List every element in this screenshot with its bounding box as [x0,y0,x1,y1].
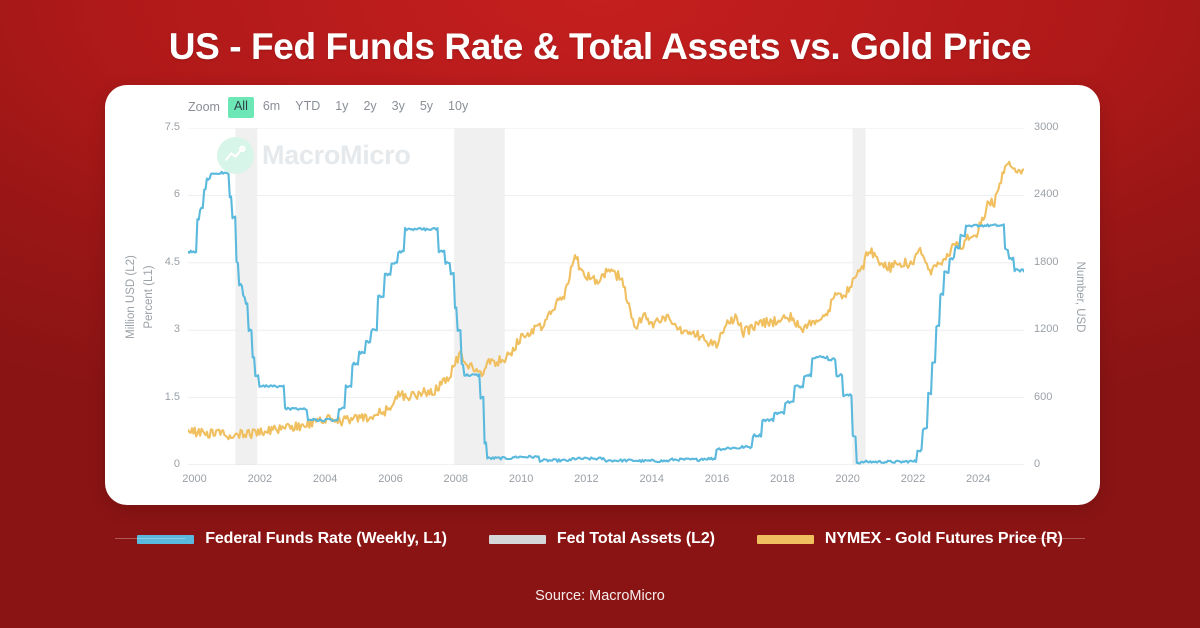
x-tick-2008: 2008 [431,473,481,485]
y-left-tick-6: 6 [142,188,180,200]
recession-band-2 [853,128,866,465]
series-line-federal-funds-rate-weekly-l1 [188,172,1024,464]
y-left-tick-0: 0 [142,458,180,470]
legend-label-fed-total-assets: Fed Total Assets (L2) [557,530,715,548]
y-left-tick-4.5: 4.5 [142,256,180,268]
zoom-range-3y[interactable]: 3y [386,97,411,118]
y-right-tick-1200: 1200 [1034,323,1058,335]
axis-title-percent: Percent (L1) [143,265,155,328]
legend-item-gold-futures-price[interactable]: NYMEX - Gold Futures Price (R) [757,530,1063,548]
x-tick-2024: 2024 [953,473,1003,485]
y-right-tick-2400: 2400 [1034,188,1058,200]
x-tick-2010: 2010 [496,473,546,485]
x-tick-2006: 2006 [365,473,415,485]
page-title: US - Fed Funds Rate & Total Assets vs. G… [0,0,1200,68]
y-left-tick-1.5: 1.5 [142,391,180,403]
recession-band-0 [235,128,257,465]
x-tick-2016: 2016 [692,473,742,485]
chart-legend: Federal Funds Rate (Weekly, L1) Fed Tota… [0,530,1200,548]
legend-swatch-gold [757,535,814,544]
gridlines-group [188,128,1024,465]
zoom-range-ytd[interactable]: YTD [289,97,326,118]
legend-swatch-gray [489,535,546,544]
y-right-tick-600: 600 [1034,391,1052,403]
legend-rule-left [115,538,185,539]
zoom-range-all[interactable]: All [228,97,254,118]
legend-item-fed-total-assets[interactable]: Fed Total Assets (L2) [489,530,715,548]
legend-item-federal-funds-rate[interactable]: Federal Funds Rate (Weekly, L1) [137,530,447,548]
chart-plot-svg[interactable] [188,128,1024,465]
plot-area[interactable] [188,128,1024,465]
x-tick-2018: 2018 [757,473,807,485]
y-right-tick-3000: 3000 [1034,121,1058,133]
source-note: Source: MacroMicro [0,588,1200,604]
x-tick-2014: 2014 [627,473,677,485]
x-tick-2020: 2020 [823,473,873,485]
y-right-tick-0: 0 [1034,458,1040,470]
x-tick-2000: 2000 [170,473,220,485]
recession-band-1 [454,128,505,465]
axis-title-number-usd: Number, USD [1074,261,1086,332]
axis-title-million-usd: Million USD (L2) [125,255,137,339]
x-tick-2004: 2004 [300,473,350,485]
legend-rule-right [1015,538,1085,539]
y-right-tick-1800: 1800 [1034,256,1058,268]
x-tick-2012: 2012 [561,473,611,485]
legend-label-federal-funds-rate: Federal Funds Rate (Weekly, L1) [205,530,447,548]
recession-bands-group [235,128,865,465]
x-tick-2002: 2002 [235,473,285,485]
legend-label-gold-futures-price: NYMEX - Gold Futures Price (R) [825,530,1063,548]
zoom-range-1y[interactable]: 1y [329,97,354,118]
chart-card: Zoom All 6m YTD 1y 2y 3y 5y 10y Million … [105,85,1100,505]
data-series-group [188,162,1024,465]
zoom-range-6m[interactable]: 6m [257,97,286,118]
zoom-label: Zoom [188,100,220,114]
x-tick-2022: 2022 [888,473,938,485]
zoom-range-2y[interactable]: 2y [357,97,382,118]
zoom-range-toolbar: Zoom All 6m YTD 1y 2y 3y 5y 10y [188,97,474,118]
y-left-tick-3: 3 [142,323,180,335]
zoom-range-5y[interactable]: 5y [414,97,439,118]
y-left-tick-7.5: 7.5 [142,121,180,133]
legend-swatch-blue [137,535,194,544]
zoom-range-10y[interactable]: 10y [442,97,474,118]
